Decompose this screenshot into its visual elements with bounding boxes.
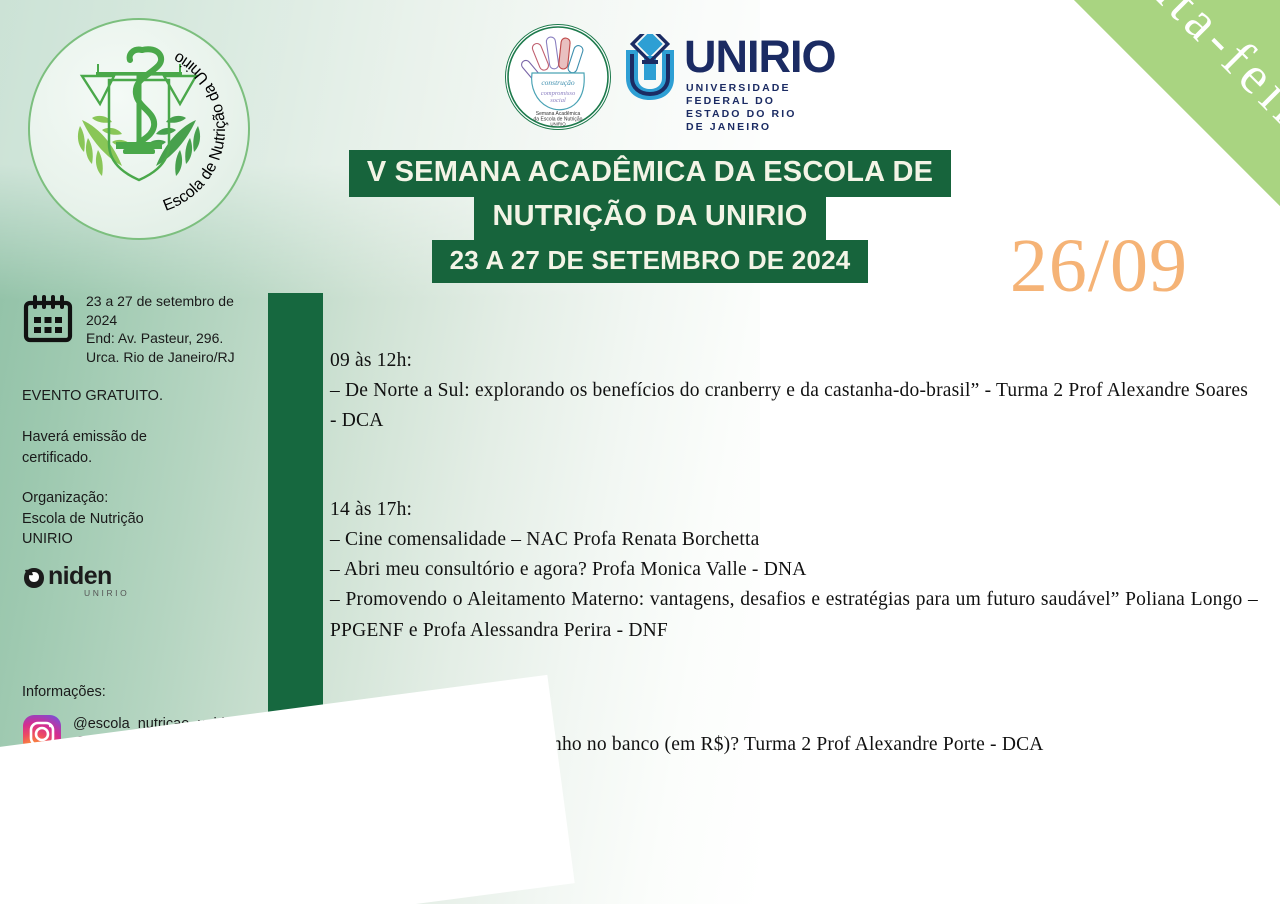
seal-artwork: Escola de Nutrição da Unirio [30, 20, 248, 238]
hand-palm-logo-artwork: construção compromisso social Semana Aca… [506, 25, 610, 129]
semana-academica-logo: construção compromisso social Semana Aca… [505, 24, 611, 130]
free-event-note: EVENTO GRATUITO. [22, 386, 258, 407]
schedule-gap-1 [330, 437, 1258, 495]
event-dates-line2: 2024 [86, 311, 235, 330]
organization-line2: UNIRIO [22, 529, 258, 550]
schedule-item-afternoon-2: – Abri meu consultório e agora? Profa Mo… [330, 555, 1258, 585]
event-poster: Escola de Nutrição da Unirio construção … [0, 0, 1280, 904]
calendar-icon [22, 294, 74, 344]
contact-title: Informações: [22, 684, 272, 700]
schedule-item-afternoon-3: – Promovendo o Aleitamento Materno: vant… [330, 585, 1258, 645]
date-badge: 26/09 [1010, 228, 1188, 304]
title-line-1: V SEMANA ACADÊMICA DA ESCOLA DE [349, 150, 951, 197]
unirio-u-icon [620, 34, 680, 106]
svg-text:compromisso: compromisso [541, 90, 576, 97]
title-line-2: NUTRIÇÃO DA UNIRIO [474, 196, 825, 241]
unirio-subtitle: UNIVERSIDADE FEDERAL DO ESTADO DO RIO DE… [686, 82, 820, 135]
certificate-note: Haverá emissão de certificado. [22, 427, 258, 468]
event-dates-line1: 23 a 27 de setembro de [86, 292, 235, 311]
svg-text:social: social [550, 97, 566, 104]
unirio-logo: UNIRIO UNIVERSIDADE FEDERAL DO ESTADO DO… [620, 34, 820, 112]
organization-label: Organização: [22, 488, 258, 509]
schedule-time-morning: 09 às 12h: [330, 346, 1258, 376]
svg-text:UNIRIO: UNIRIO [550, 122, 566, 127]
poster-title-block: V SEMANA ACADÊMICA DA ESCOLA DE NUTRIÇÃO… [300, 150, 1000, 283]
sidebar-info: 23 a 27 de setembro de 2024 End: Av. Pas… [22, 292, 258, 598]
escola-nutricao-seal: Escola de Nutrição da Unirio [28, 18, 250, 240]
schedule-item-morning-1: – De Norte a Sul: explorando os benefíci… [330, 376, 1258, 436]
svg-text:construção: construção [541, 78, 575, 87]
schedule-block-afternoon: 14 às 17h: – Cine comensalidade – NAC Pr… [330, 495, 1258, 646]
event-date-text: 23 a 27 de setembro de 2024 End: Av. Pas… [86, 292, 235, 366]
certificate-line1: Haverá emissão de [22, 427, 258, 448]
schedule-item-afternoon-1: – Cine comensalidade – NAC Profa Renata … [330, 525, 1258, 555]
certificate-line2: certificado. [22, 448, 258, 469]
unirio-subtitle-line1: UNIVERSIDADE FEDERAL DO [686, 82, 820, 108]
niden-leaf-icon [22, 565, 46, 591]
title-line-3: 23 A 27 DE SETEMBRO DE 2024 [432, 240, 869, 283]
address-line1: End: Av. Pasteur, 296. [86, 329, 235, 348]
schedule-time-afternoon: 14 às 17h: [330, 495, 1258, 525]
organization-line1: Escola de Nutrição [22, 509, 258, 530]
niden-wordmark: niden [48, 564, 112, 589]
niden-subtitle: UNIRIO [84, 588, 129, 598]
unirio-subtitle-line2: ESTADO DO RIO DE JANEIRO [686, 108, 820, 134]
organization-note: Organização: Escola de Nutrição UNIRIO [22, 488, 258, 550]
schedule-block-morning: 09 às 12h: – De Norte a Sul: explorando … [330, 346, 1258, 437]
unirio-wordmark: UNIRIO [684, 34, 836, 79]
niden-logo: niden UNIRIO [22, 564, 142, 598]
event-date-row: 23 a 27 de setembro de 2024 End: Av. Pas… [22, 292, 258, 366]
address-line2: Urca. Rio de Janeiro/RJ [86, 348, 235, 367]
